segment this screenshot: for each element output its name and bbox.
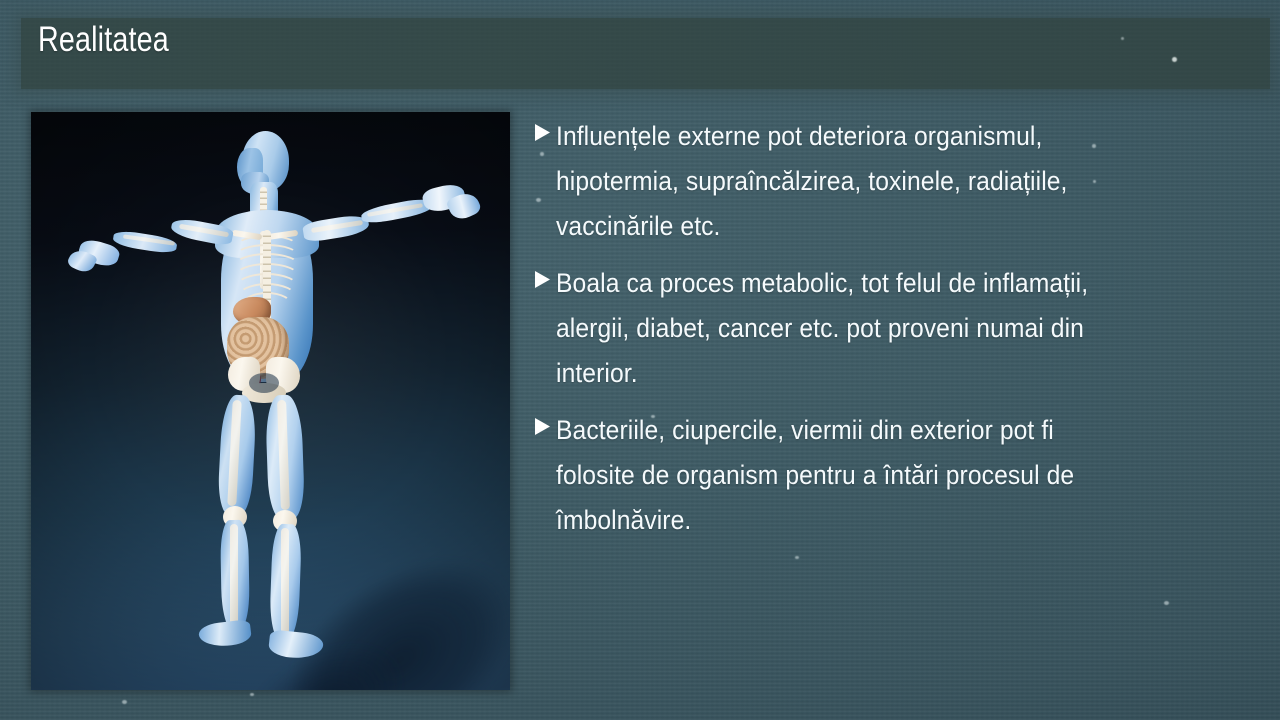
tibia-right [281, 528, 289, 634]
bullet-list: Influențele externe pot deteriora organi… [534, 114, 1164, 555]
pelvic-inlet [249, 373, 279, 393]
background-speck-5 [700, 470, 704, 473]
background-speck-6 [651, 415, 655, 418]
background-speck-7 [795, 556, 799, 559]
bullet-triangle-icon [534, 261, 556, 289]
list-item[interactable]: Boala ca proces metabolic, tot felul de … [534, 261, 1164, 396]
tibia-left [230, 524, 238, 626]
bullet-text: Influențele externe pot deteriora organi… [556, 114, 1121, 249]
page-title: Realitatea [38, 20, 169, 60]
bullet-text: Boala ca proces metabolic, tot felul de … [556, 261, 1121, 396]
background-speck-8 [1164, 601, 1169, 605]
foot-right [268, 629, 324, 661]
background-speck-10 [250, 693, 254, 696]
foot-left [198, 619, 253, 649]
title-banner [21, 18, 1270, 89]
bullet-triangle-icon [534, 408, 556, 436]
anatomy-illustration [31, 112, 510, 690]
human-figure [31, 112, 510, 690]
background-speck-3 [536, 198, 541, 202]
banner-dust-speck-2 [1121, 37, 1124, 40]
bullet-text: Bacteriile, ciupercile, viermii din exte… [556, 408, 1121, 543]
list-item[interactable]: Influențele externe pot deteriora organi… [534, 114, 1164, 249]
banner-dust-speck-1 [1172, 57, 1177, 62]
list-item[interactable]: Bacteriile, ciupercile, viermii din exte… [534, 408, 1164, 543]
bullet-triangle-icon [534, 114, 556, 142]
background-speck-9 [122, 700, 127, 704]
background-speck-2 [540, 152, 544, 156]
background-speck-4 [1093, 180, 1096, 183]
background-speck-1 [1092, 144, 1096, 148]
presentation-slide: Realitatea [0, 0, 1280, 720]
